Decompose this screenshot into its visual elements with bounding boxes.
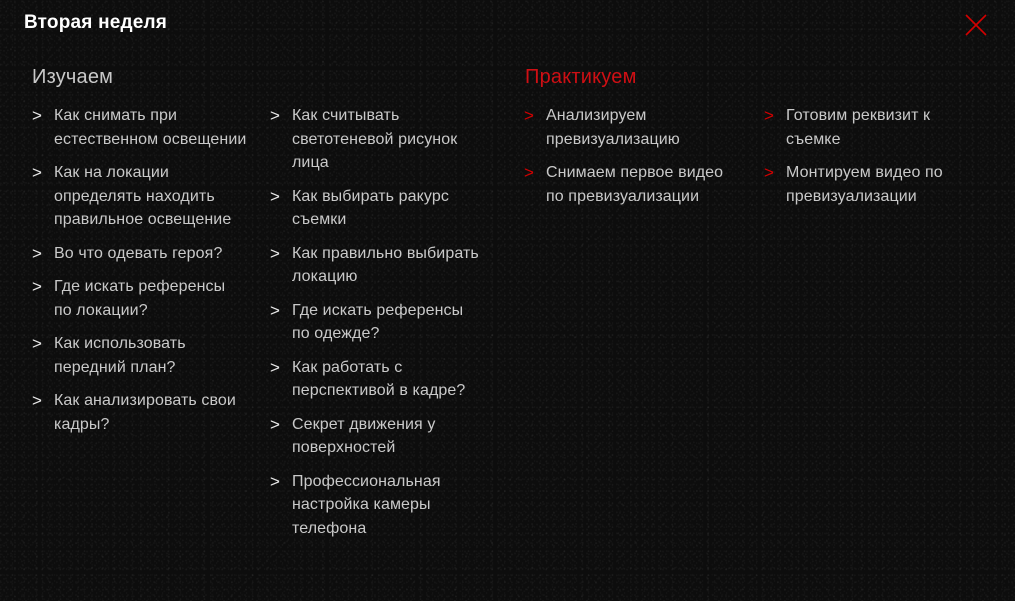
topic-list: > Как считывать светотеневой рисунок лиц… bbox=[270, 104, 485, 540]
close-icon bbox=[964, 13, 988, 37]
list-item-label: Профессиональная настройка камеры телефо… bbox=[292, 473, 441, 537]
list-item-label: Готовим реквизит к съемке bbox=[786, 107, 930, 148]
column-practice-2: > Готовим реквизит к съемке > Монтируем … bbox=[764, 104, 979, 208]
topic-list: > Как снимать при естественном освещении… bbox=[32, 104, 247, 436]
chevron-right-icon: > bbox=[32, 389, 46, 413]
list-item[interactable]: > Как правильно выбирать локацию bbox=[270, 242, 485, 289]
list-item[interactable]: > Где искать референсы по локации? bbox=[32, 275, 247, 322]
chevron-right-icon: > bbox=[270, 299, 284, 323]
topic-list: > Анализируем превизуализацию > Снимаем … bbox=[524, 104, 739, 208]
topic-list: > Готовим реквизит к съемке > Монтируем … bbox=[764, 104, 979, 208]
list-item[interactable]: > Во что одевать героя? bbox=[32, 242, 247, 266]
list-item-label: Как правильно выбирать локацию bbox=[292, 245, 479, 286]
list-item-label: Как снимать при естественном освещении bbox=[54, 107, 246, 148]
list-item-label: Как считывать светотеневой рисунок лица bbox=[292, 107, 457, 171]
list-item-label: Как на локации определять находить прави… bbox=[54, 164, 231, 228]
list-item[interactable]: > Как использовать передний план? bbox=[32, 332, 247, 379]
list-item-label: Анализируем превизуализацию bbox=[546, 107, 680, 148]
list-item[interactable]: > Как снимать при естественном освещении bbox=[32, 104, 247, 151]
chevron-right-icon: > bbox=[270, 185, 284, 209]
chevron-right-icon: > bbox=[764, 161, 778, 185]
chevron-right-icon: > bbox=[524, 104, 538, 128]
list-item[interactable]: > Где искать референсы по одежде? bbox=[270, 299, 485, 346]
list-item-label: Монтируем видео по превизуализации bbox=[786, 164, 943, 205]
list-item-label: Как использовать передний план? bbox=[54, 335, 186, 376]
list-item-label: Во что одевать героя? bbox=[54, 245, 222, 262]
list-item[interactable]: > Как на локации определять находить пра… bbox=[32, 161, 247, 232]
list-item[interactable]: > Как считывать светотеневой рисунок лиц… bbox=[270, 104, 485, 175]
list-item[interactable]: > Готовим реквизит к съемке bbox=[764, 104, 979, 151]
list-item-label: Как выбирать ракурс съемки bbox=[292, 188, 449, 229]
chevron-right-icon: > bbox=[524, 161, 538, 185]
column-learn-1: > Как снимать при естественном освещении… bbox=[32, 104, 247, 436]
chevron-right-icon: > bbox=[764, 104, 778, 128]
list-item-label: Как анализировать свои кадры? bbox=[54, 392, 236, 433]
list-item[interactable]: > Как работать с перспективой в кадре? bbox=[270, 356, 485, 403]
list-item-label: Снимаем первое видео по превизуализации bbox=[546, 164, 723, 205]
list-item[interactable]: > Анализируем превизуализацию bbox=[524, 104, 739, 151]
list-item-label: Где искать референсы по локации? bbox=[54, 278, 225, 319]
section-heading-learn: Изучаем bbox=[32, 66, 113, 89]
week-program-modal: Вторая неделя Изучаем Практикуем > Как с… bbox=[0, 0, 1015, 601]
column-learn-2: > Как считывать светотеневой рисунок лиц… bbox=[270, 104, 485, 540]
chevron-right-icon: > bbox=[270, 356, 284, 380]
list-item-label: Как работать с перспективой в кадре? bbox=[292, 359, 465, 400]
modal-title: Вторая неделя bbox=[24, 12, 167, 34]
list-item-label: Секрет движения у поверхностей bbox=[292, 416, 435, 457]
list-item[interactable]: > Как анализировать свои кадры? bbox=[32, 389, 247, 436]
list-item[interactable]: > Секрет движения у поверхностей bbox=[270, 413, 485, 460]
section-heading-practice: Практикуем bbox=[525, 66, 637, 89]
chevron-right-icon: > bbox=[32, 242, 46, 266]
list-item[interactable]: > Снимаем первое видео по превизуализаци… bbox=[524, 161, 739, 208]
chevron-right-icon: > bbox=[32, 104, 46, 128]
chevron-right-icon: > bbox=[270, 242, 284, 266]
list-item-label: Где искать референсы по одежде? bbox=[292, 302, 463, 343]
list-item[interactable]: > Монтируем видео по превизуализации bbox=[764, 161, 979, 208]
close-button[interactable] bbox=[961, 10, 991, 40]
chevron-right-icon: > bbox=[32, 275, 46, 299]
list-item[interactable]: > Профессиональная настройка камеры теле… bbox=[270, 470, 485, 541]
chevron-right-icon: > bbox=[270, 104, 284, 128]
chevron-right-icon: > bbox=[32, 161, 46, 185]
chevron-right-icon: > bbox=[270, 470, 284, 494]
column-practice-1: > Анализируем превизуализацию > Снимаем … bbox=[524, 104, 739, 208]
chevron-right-icon: > bbox=[32, 332, 46, 356]
chevron-right-icon: > bbox=[270, 413, 284, 437]
list-item[interactable]: > Как выбирать ракурс съемки bbox=[270, 185, 485, 232]
